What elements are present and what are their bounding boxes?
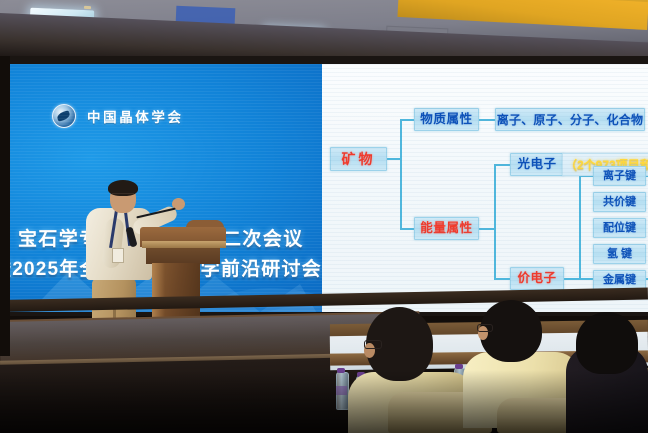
society-branding: 中国晶体学会 — [52, 104, 184, 128]
lectern-band — [142, 241, 226, 248]
ceiling-spot-1 — [84, 6, 91, 9]
mindmap-node-energy-property-label: 能量属性 — [420, 222, 472, 235]
mindmap-node-bond-ionic-label: 离子键 — [603, 171, 636, 182]
attendee-right-hair — [576, 312, 638, 374]
link-energy-out — [477, 228, 495, 230]
society-name: 中国晶体学会 — [87, 106, 184, 126]
mindmap-node-material-property-label: 物质属性 — [420, 113, 472, 126]
link-valence-out — [562, 278, 580, 280]
water-bottle-3-cap — [455, 364, 463, 369]
link-bond-5 — [579, 278, 593, 280]
conference-photo: 中国晶体学会 宝石学专委会（筹）第二次会议 暨2025年全国金刚石科学前沿研讨会… — [0, 0, 648, 433]
link-to-energy — [400, 228, 414, 230]
mindmap-node-bond-hydrogen[interactable]: 氢 键 — [593, 244, 646, 264]
mindmap-node-bond-ionic[interactable]: 离子键 — [593, 166, 646, 186]
mindmap-node-photoelectron-label: 光电子 — [517, 158, 556, 171]
mindmap-node-valence-electron[interactable]: 价电子 — [510, 267, 564, 290]
speaker-glasses-icon — [112, 193, 134, 199]
left-wall-shadow — [0, 56, 10, 356]
mindmap-node-valence-electron-label: 价电子 — [517, 272, 556, 285]
projection-screen-right: 矿物 物质属性 能量属性 离子、原子、分子、化合物 光电子 （2个973项目和1… — [322, 64, 648, 312]
mindmap-root-label: 矿物 — [342, 152, 376, 166]
attendee-center-glasses-icon — [477, 324, 493, 332]
crystallography-society-logo-icon — [52, 104, 76, 128]
link-root-out — [385, 158, 401, 160]
mindmap-node-material-property[interactable]: 物质属性 — [414, 108, 479, 131]
attendee-left-glasses-icon — [364, 340, 382, 349]
link-to-material — [400, 119, 414, 121]
mindmap-node-bond-coordinate-label: 配位键 — [603, 223, 636, 234]
mindmap-node-bond-hydrogen-label: 氢 键 — [607, 249, 632, 260]
link-energy-vertical — [494, 164, 496, 279]
mindmap-node-energy-property[interactable]: 能量属性 — [414, 217, 479, 240]
mindmap-node-photoelectron[interactable]: 光电子 — [510, 153, 564, 176]
water-bottle-1-cap — [337, 368, 345, 373]
link-to-photoelectron — [494, 164, 510, 166]
mindmap-node-particles[interactable]: 离子、原子、分子、化合物 — [495, 108, 645, 131]
mindmap-node-bond-covalent-label: 共价键 — [603, 197, 636, 208]
link-bonds-vertical — [579, 175, 581, 279]
mindmap-root-node[interactable]: 矿物 — [330, 147, 387, 171]
water-bottle-1-label — [336, 386, 347, 395]
mindmap-node-particles-label: 离子、原子、分子、化合物 — [497, 114, 643, 126]
mindmap-node-bond-covalent[interactable]: 共价键 — [593, 192, 646, 212]
link-root-vertical — [400, 119, 402, 229]
lectern-body — [146, 248, 220, 264]
mindmap-node-bond-coordinate[interactable]: 配位键 — [593, 218, 646, 238]
speaker-name-badge — [112, 248, 124, 263]
link-material-out — [477, 119, 495, 121]
link-to-valence — [494, 278, 510, 280]
mindmap-node-bond-metallic-label: 金属键 — [603, 275, 636, 286]
